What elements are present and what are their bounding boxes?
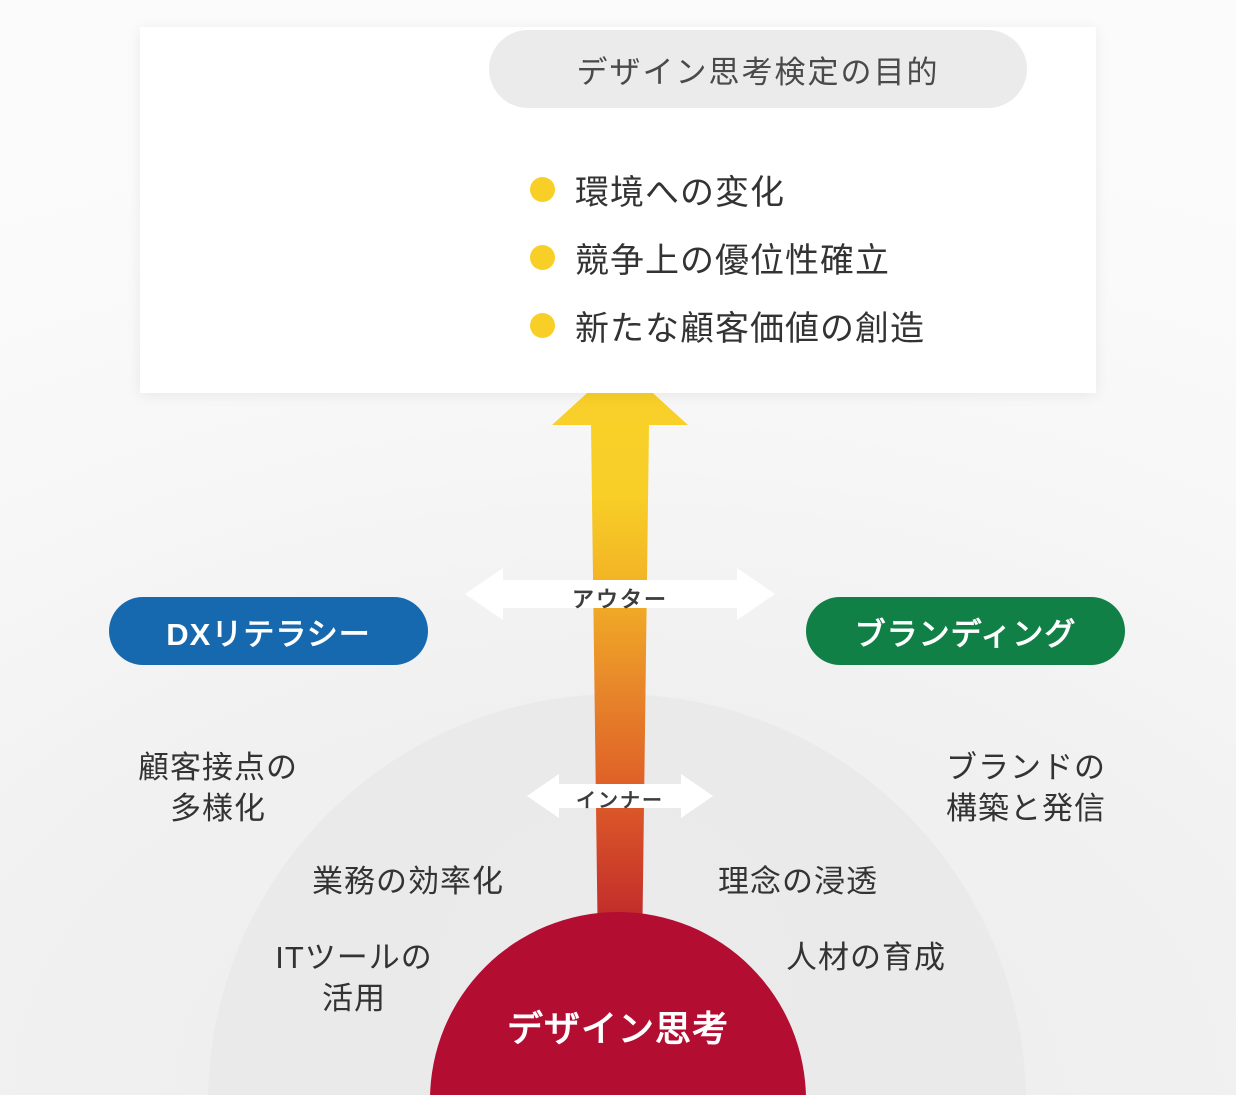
purpose-item-label: 環境への変化 (575, 165, 785, 214)
bullet-dot-icon (530, 245, 555, 270)
core-circle-label: デザイン思考 (430, 1000, 806, 1052)
keyword-hr-development: 人材の育成 (786, 938, 1036, 979)
diagram-canvas: デザイン思考検定の目的 環境への変化 競争上の優位性確立 新たな顧客価値の創造 … (0, 0, 1236, 1095)
purpose-title-pill: デザイン思考検定の目的 (489, 30, 1027, 108)
keyword-brand-building: ブランドの 構築と発信 (920, 748, 1132, 830)
category-pill-branding[interactable]: ブランディング (806, 597, 1125, 665)
keyword-customer-contact: 顧客接点の 多様化 (112, 748, 324, 830)
outer-axis-arrow: アウター (465, 566, 775, 622)
outer-axis-label: アウター (465, 582, 775, 614)
category-pill-dx-literacy-label: DXリテラシー (166, 609, 370, 654)
list-item: 競争上の優位性確立 (530, 223, 1090, 291)
list-item: 環境への変化 (530, 155, 1090, 223)
inner-axis-label: インナー (527, 784, 713, 813)
purpose-list: 環境への変化 競争上の優位性確立 新たな顧客価値の創造 (530, 155, 1090, 359)
keyword-operational-efficiency: 業務の効率化 (312, 862, 562, 903)
purpose-card: デザイン思考検定の目的 環境への変化 競争上の優位性確立 新たな顧客価値の創造 (140, 27, 1096, 393)
keyword-it-tools-line1: ITツールの (248, 938, 460, 979)
bullet-dot-icon (530, 177, 555, 202)
keyword-customer-contact-line1: 顧客接点の (112, 748, 324, 789)
keyword-customer-contact-line2: 多様化 (112, 789, 324, 830)
bullet-dot-icon (530, 313, 555, 338)
purpose-item-label: 新たな顧客価値の創造 (575, 301, 925, 350)
list-item: 新たな顧客価値の創造 (530, 291, 1090, 359)
keyword-brand-building-line1: ブランドの (920, 748, 1132, 789)
keyword-it-tools-line2: 活用 (248, 979, 460, 1020)
keyword-philosophy-penetration: 理念の浸透 (718, 862, 968, 903)
category-pill-dx-literacy[interactable]: DXリテラシー (109, 597, 428, 665)
growth-arrow-icon (540, 358, 700, 958)
purpose-title-text: デザイン思考検定の目的 (577, 47, 940, 92)
category-pill-branding-label: ブランディング (855, 609, 1077, 654)
inner-axis-arrow: インナー (527, 772, 713, 820)
purpose-item-label: 競争上の優位性確立 (575, 233, 890, 282)
keyword-brand-building-line2: 構築と発信 (920, 789, 1132, 830)
keyword-it-tools: ITツールの 活用 (248, 938, 460, 1020)
